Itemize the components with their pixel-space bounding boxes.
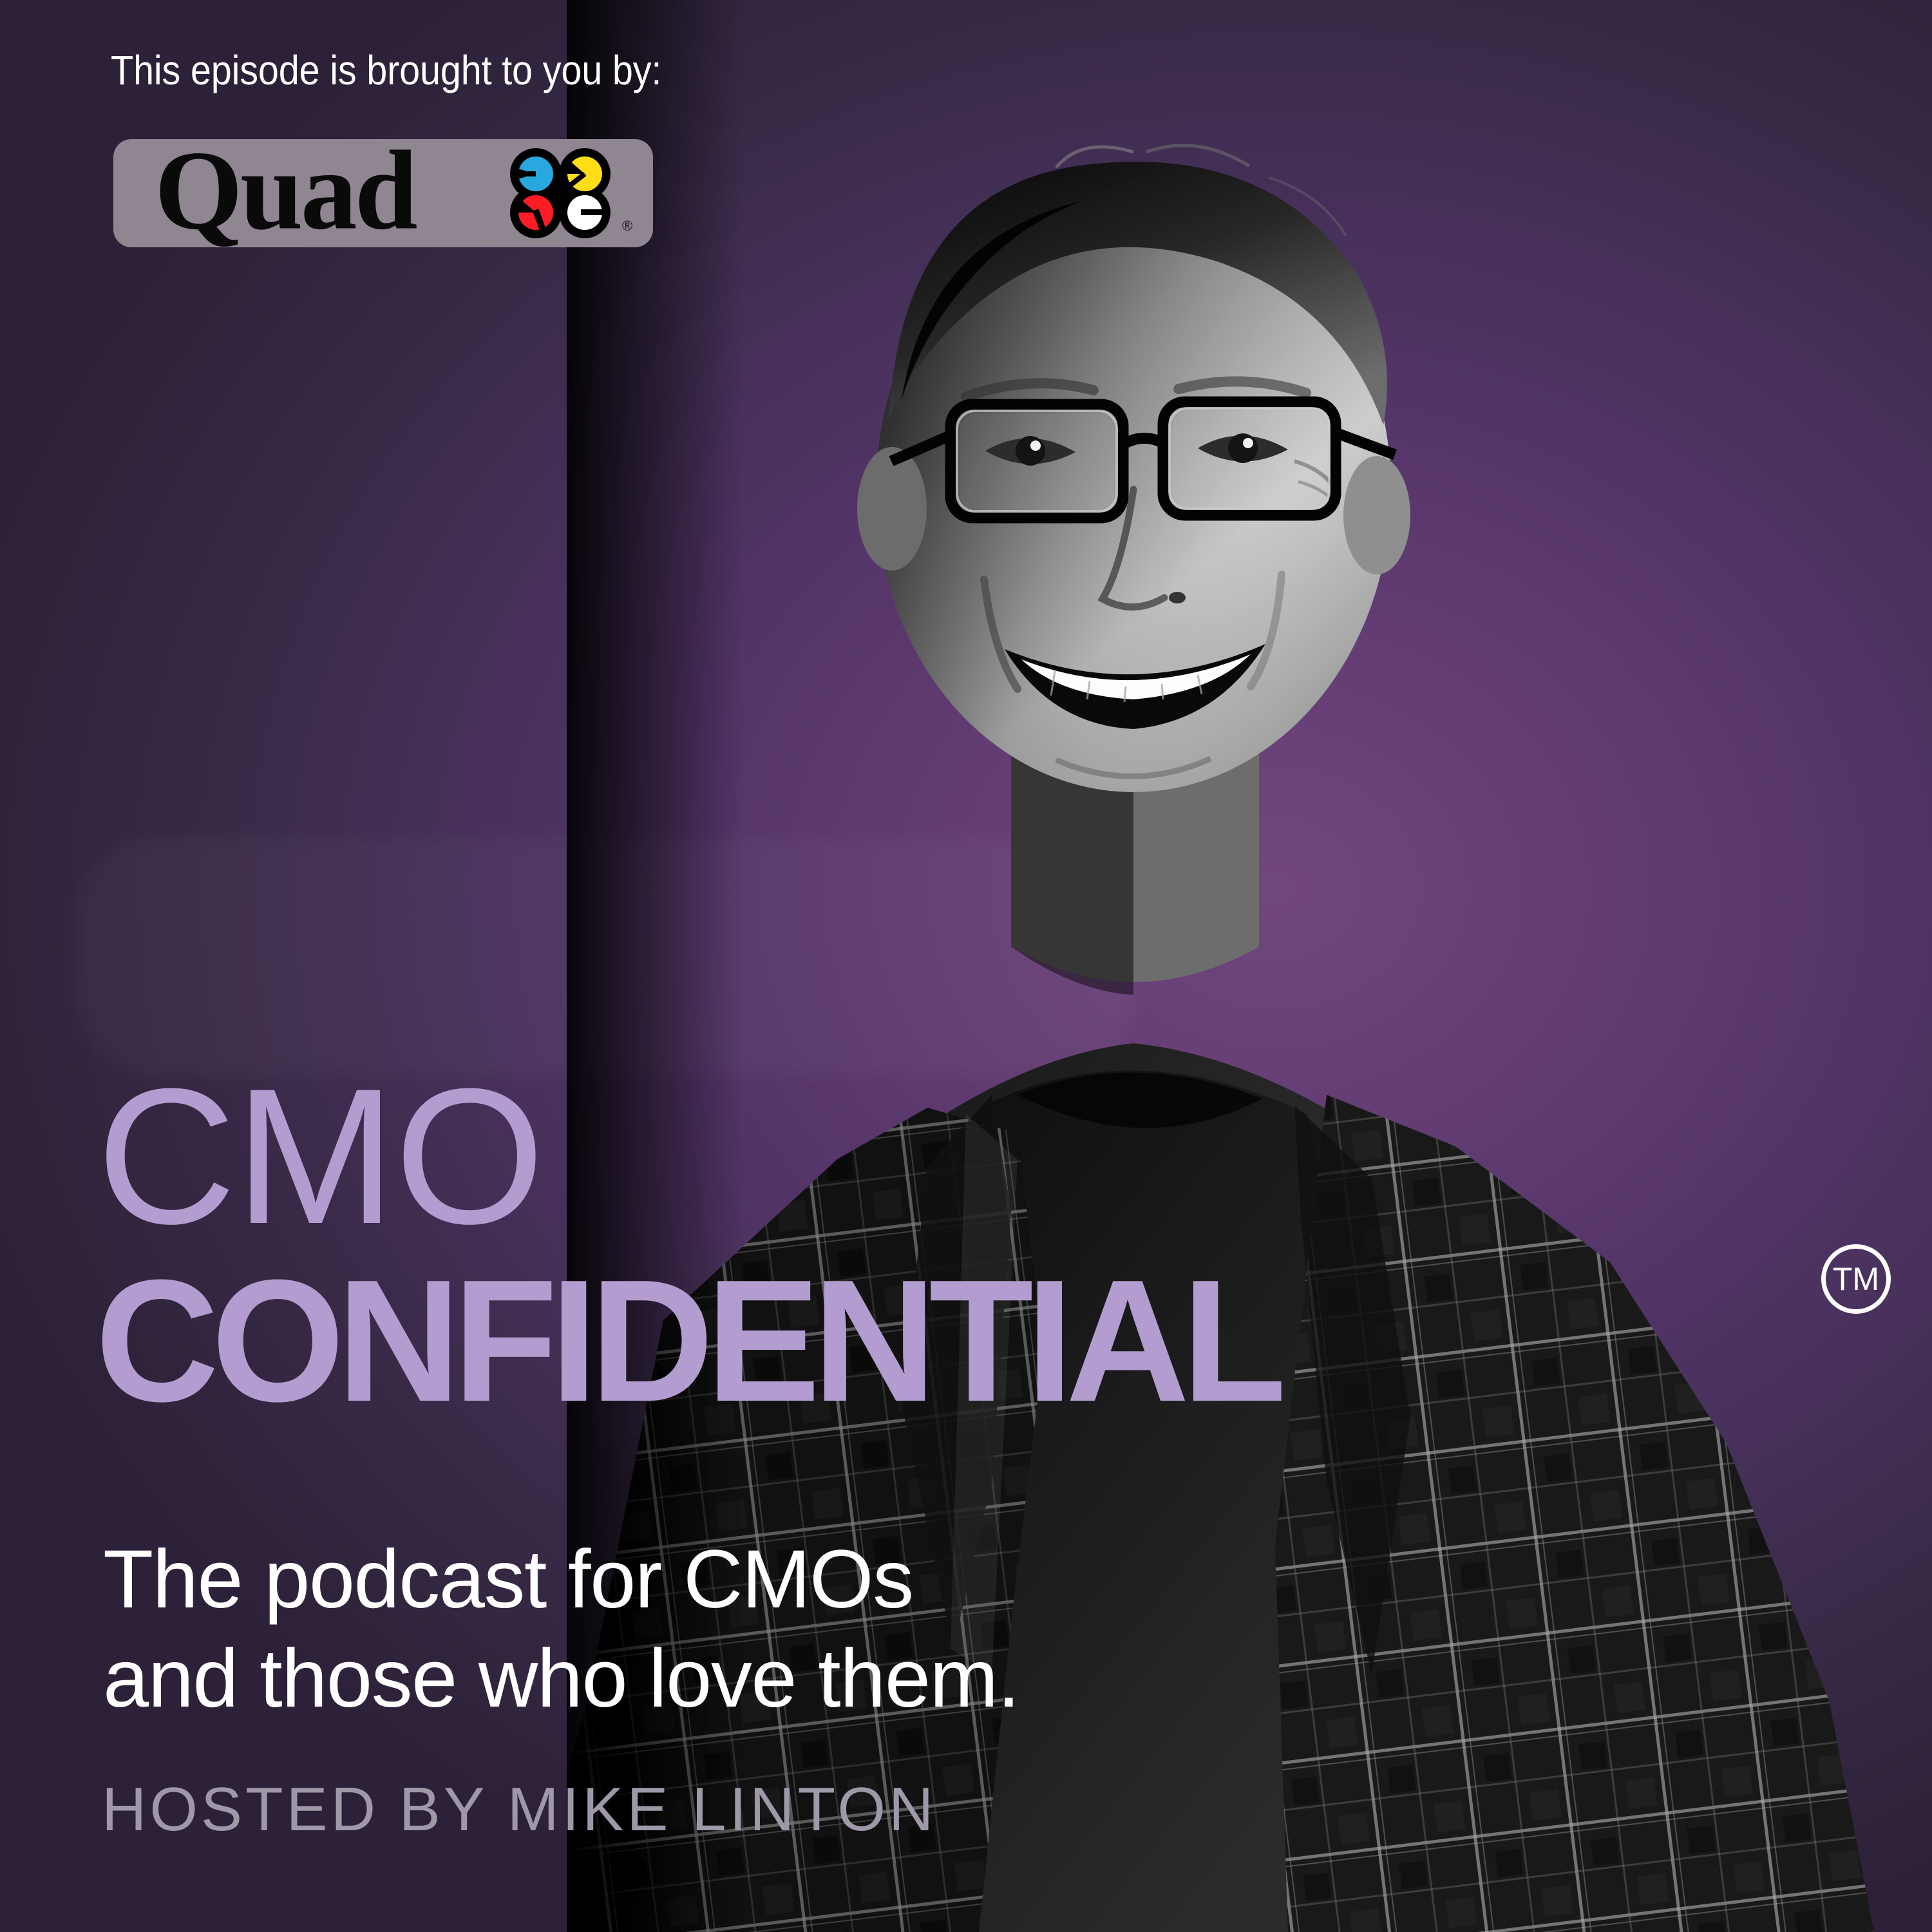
sponsor-intro-text: This episode is brought to you by:: [111, 46, 661, 94]
trademark-label: TM: [1833, 1260, 1879, 1298]
sponsor-logo-badge[interactable]: Quad: [113, 139, 653, 247]
brand-title-confidential: CONFIDENTIAL: [95, 1255, 1279, 1428]
trademark-badge: TM: [1821, 1244, 1891, 1314]
quad-wordmark: Quad: [155, 139, 415, 247]
tagline-line-2: and those who love them.: [103, 1629, 1019, 1728]
tagline-line-1: The podcast for CMOs: [103, 1530, 1019, 1629]
brand-title-cmo: CMO: [97, 1059, 544, 1253]
podcast-cover-art: This episode is brought to you by: Quad: [0, 0, 1932, 1932]
podcast-tagline: The podcast for CMOs and those who love …: [103, 1530, 1019, 1728]
quad-four-circle-logo-icon: [500, 148, 636, 238]
registered-trademark-icon: ®: [622, 219, 632, 233]
host-credit: HOSTED BY MIKE LINTON: [102, 1779, 936, 1841]
